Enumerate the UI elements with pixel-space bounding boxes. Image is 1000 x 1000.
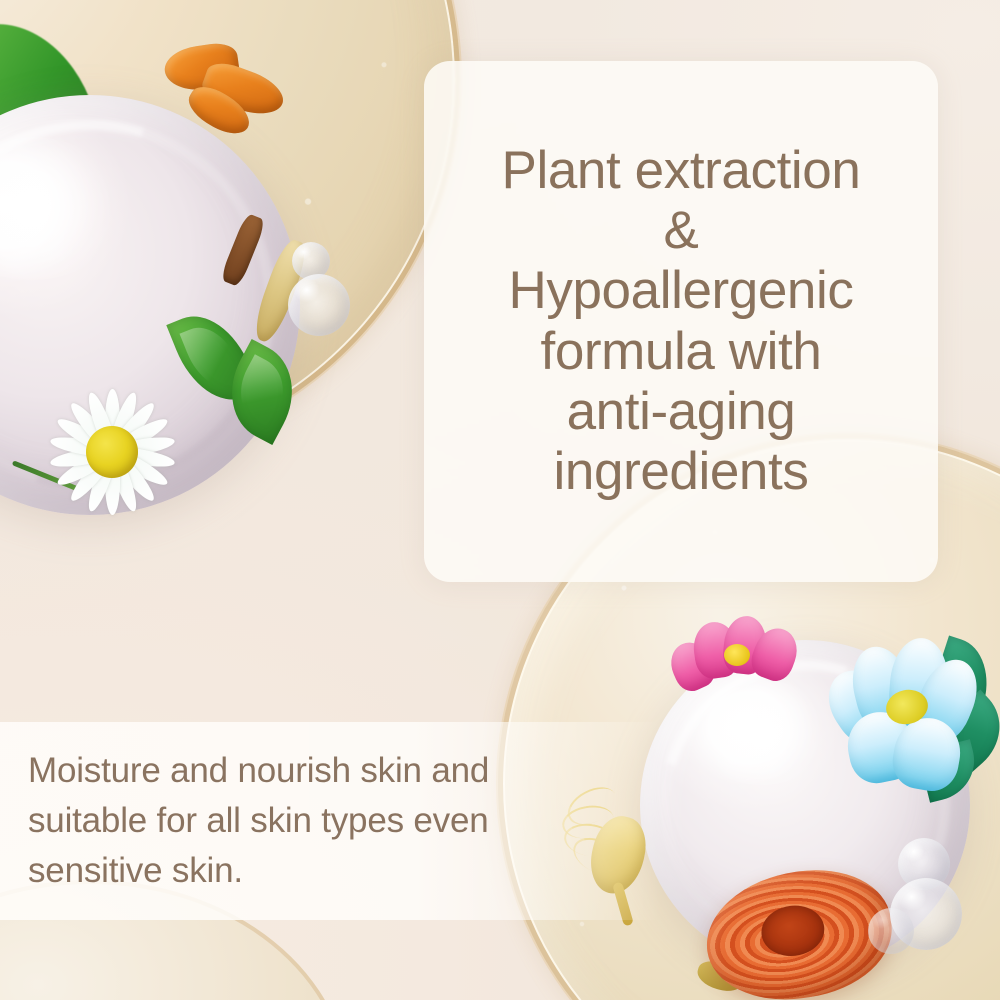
peony-center (724, 644, 750, 666)
dried-orange-root-icon (157, 36, 289, 154)
blue-peony-icon (828, 636, 1000, 798)
headline-card: Plant extraction & Hypoallergenic formul… (424, 61, 938, 582)
product-banner: Plant extraction & Hypoallergenic formul… (0, 0, 1000, 1000)
daisy-center (86, 426, 138, 478)
glass-bubble-top (288, 274, 350, 336)
glass-bubble-bottom (868, 908, 914, 954)
pink-peony-icon (672, 614, 800, 700)
body-text: Moisture and nourish skin and suitable f… (0, 746, 489, 895)
body-text-band: Moisture and nourish skin and suitable f… (0, 722, 660, 920)
headline-text: Plant extraction & Hypoallergenic formul… (488, 141, 875, 502)
chamomile-daisy-icon (36, 378, 188, 526)
